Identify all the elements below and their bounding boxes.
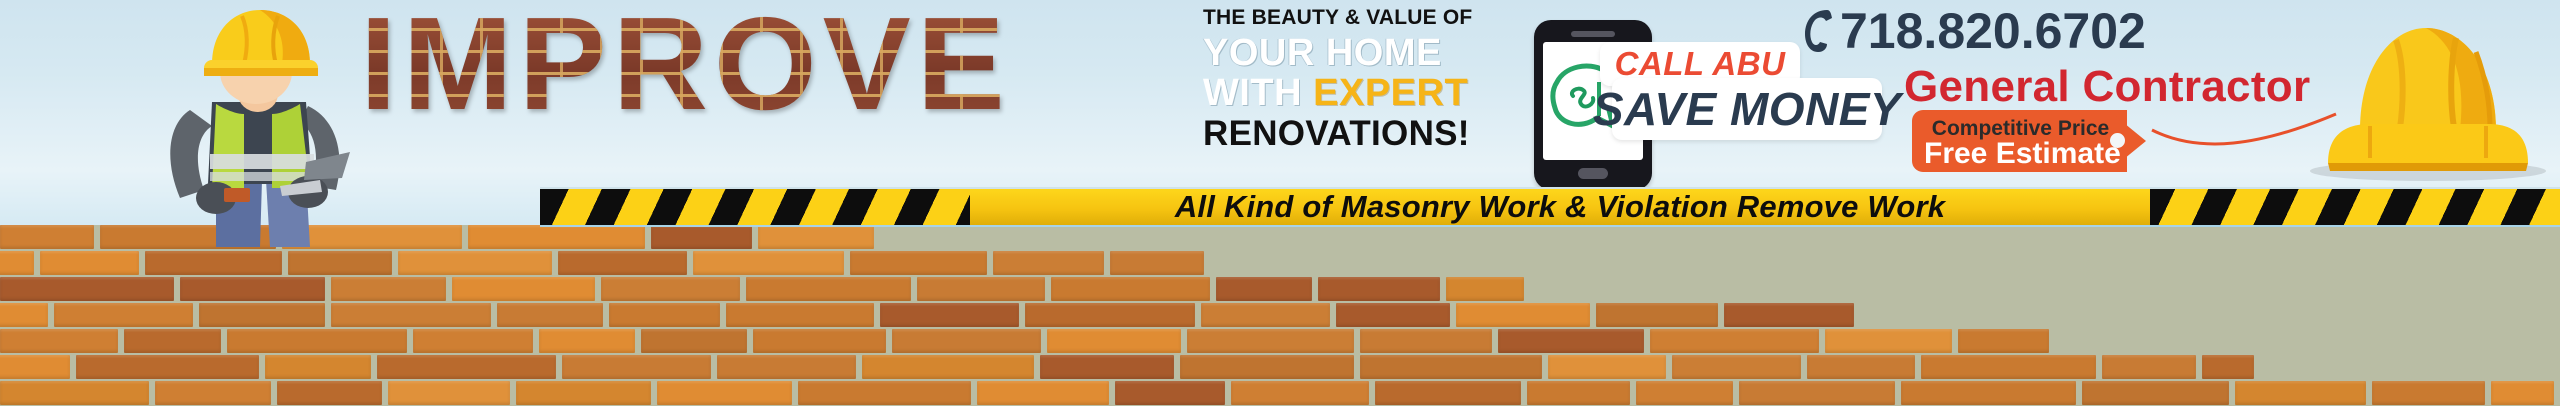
brick	[0, 381, 149, 405]
brick	[0, 225, 94, 249]
phone-home-button	[1578, 168, 1608, 179]
promo-with: WITH	[1203, 72, 1313, 114]
brick	[1201, 303, 1330, 327]
brick	[558, 251, 687, 275]
brick	[1958, 329, 2049, 353]
brick	[1115, 381, 1225, 405]
promo-text-block: THE BEAUTY & VALUE OF YOUR HOME WITH EXP…	[1203, 6, 1503, 153]
brick	[1456, 303, 1590, 327]
brick	[1636, 381, 1733, 405]
brick	[798, 381, 971, 405]
brick	[388, 381, 510, 405]
brick	[331, 303, 491, 327]
brick-row	[0, 277, 2560, 303]
brick	[2082, 381, 2229, 405]
brick	[2202, 355, 2254, 379]
brick	[2491, 381, 2554, 405]
tagline-plate: All Kind of Masonry Work & Violation Rem…	[970, 189, 2150, 225]
brick	[1650, 329, 1819, 353]
brick	[562, 355, 711, 379]
caution-strip: All Kind of Masonry Work & Violation Rem…	[540, 187, 2560, 227]
promo-expert: EXPERT	[1313, 72, 1468, 114]
brick	[277, 381, 382, 405]
brick	[2102, 355, 2196, 379]
brick-wall	[0, 225, 2560, 406]
brick	[288, 251, 392, 275]
brick	[0, 303, 48, 327]
brick	[377, 355, 556, 379]
brick	[862, 355, 1034, 379]
save-money-badge: SAVE MONEY	[1612, 78, 1882, 140]
brick	[145, 251, 282, 275]
brick	[1901, 381, 2076, 405]
brick	[516, 381, 651, 405]
brick	[693, 251, 844, 275]
brick	[0, 251, 34, 275]
brick	[1360, 329, 1492, 353]
headline-text: IMPROVE	[360, 6, 1011, 122]
brick	[753, 329, 886, 353]
brick	[1527, 381, 1630, 405]
brick	[0, 355, 70, 379]
promo-line-4: RENOVATIONS!	[1203, 115, 1503, 153]
brick	[1025, 303, 1195, 327]
price-tag-line-2: Free Estimate	[1924, 137, 2114, 171]
brick	[497, 303, 603, 327]
brick	[0, 277, 174, 301]
brick	[601, 277, 740, 301]
brick	[265, 355, 371, 379]
brick-row	[0, 303, 2560, 329]
brick-row	[0, 251, 2560, 277]
brick	[917, 277, 1045, 301]
brick	[717, 355, 856, 379]
promo-line-2: YOUR HOME	[1203, 34, 1503, 72]
brick-row	[0, 355, 2560, 381]
brick	[1446, 277, 1524, 301]
brick	[1724, 303, 1854, 327]
brick	[1180, 355, 1354, 379]
brick	[1187, 329, 1354, 353]
brick	[657, 381, 792, 405]
brick	[398, 251, 552, 275]
brick	[1047, 329, 1181, 353]
brick	[892, 329, 1041, 353]
brick	[758, 225, 874, 249]
brick	[977, 381, 1109, 405]
brick	[54, 303, 193, 327]
brick	[2235, 381, 2366, 405]
brick	[1807, 355, 1915, 379]
brick	[1548, 355, 1666, 379]
brick-row	[0, 381, 2560, 406]
brick	[155, 381, 271, 405]
brick	[1921, 355, 2096, 379]
brick	[746, 277, 911, 301]
brick	[1498, 329, 1644, 353]
brick	[468, 225, 645, 249]
hard-hat-icon	[2300, 8, 2550, 183]
construction-worker-icon	[120, 2, 370, 247]
brick	[1360, 355, 1542, 379]
brick	[1672, 355, 1801, 379]
brick	[1318, 277, 1440, 301]
brick	[40, 251, 139, 275]
brick	[1110, 251, 1204, 275]
brick	[880, 303, 1019, 327]
brick	[850, 251, 987, 275]
brick	[76, 355, 259, 379]
brick	[413, 329, 533, 353]
brick	[609, 303, 720, 327]
phone-number: 718.820.6702	[1840, 6, 2146, 56]
headline-improve: IMPROVE	[360, 6, 1011, 122]
price-tag-badge[interactable]: Competitive Price Free Estimate	[1912, 110, 2157, 172]
save-money-label: SAVE MONEY	[1593, 82, 1901, 136]
brick	[726, 303, 874, 327]
brick	[1231, 381, 1369, 405]
brick	[641, 329, 747, 353]
brick	[199, 303, 325, 327]
brick	[1336, 303, 1450, 327]
brick	[539, 329, 635, 353]
brick	[1375, 381, 1521, 405]
brick	[124, 329, 221, 353]
brick	[651, 225, 752, 249]
brick	[1739, 381, 1895, 405]
brick	[1596, 303, 1718, 327]
brick	[331, 277, 446, 301]
brick	[1825, 329, 1952, 353]
brick	[227, 329, 407, 353]
brick	[2372, 381, 2485, 405]
brick	[1040, 355, 1174, 379]
improve-contractor-banner: IMPROVE THE BEAUTY & VALUE OF YOUR HOME …	[0, 0, 2560, 406]
phone-number-row[interactable]: 718.820.6702	[1800, 6, 2146, 56]
brick	[993, 251, 1104, 275]
promo-line-3: WITH EXPERT	[1203, 73, 1503, 113]
brick	[452, 277, 595, 301]
brick	[1216, 277, 1312, 301]
phone-handset-icon	[1800, 8, 1834, 54]
brick	[180, 277, 325, 301]
brick	[0, 329, 118, 353]
promo-line-1: THE BEAUTY & VALUE OF	[1203, 6, 1503, 30]
brick	[1051, 277, 1210, 301]
tagline-text: All Kind of Masonry Work & Violation Rem…	[1175, 189, 1945, 225]
brick-row	[0, 225, 2560, 251]
phone-speaker	[1571, 31, 1615, 37]
brick-row	[0, 329, 2560, 355]
